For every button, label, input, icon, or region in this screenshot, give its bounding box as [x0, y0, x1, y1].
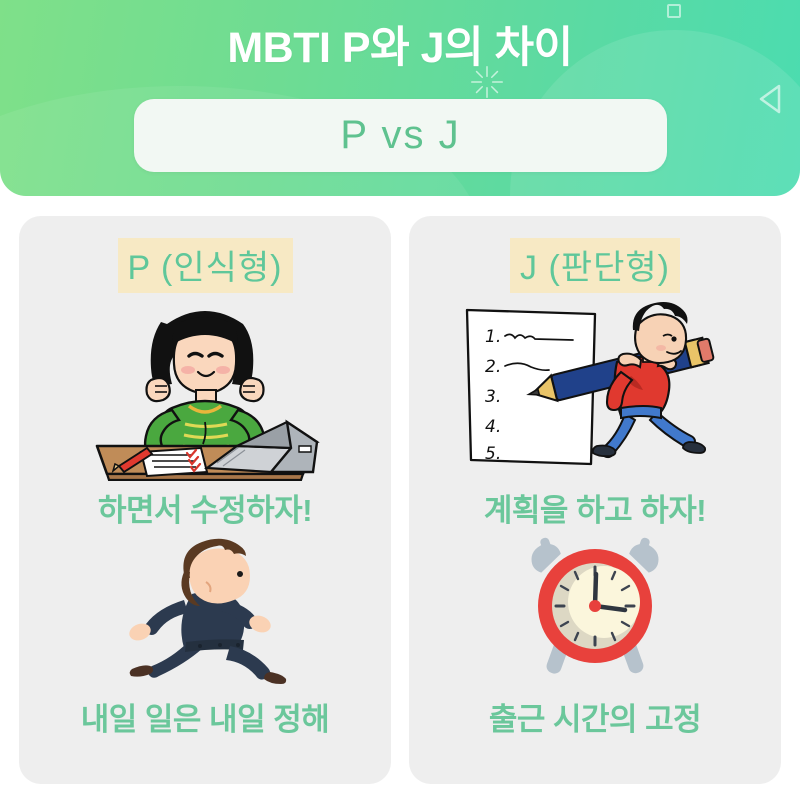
- card-j-title-wrap: J (판단형): [510, 238, 680, 293]
- list-number-3: 3.: [485, 387, 501, 407]
- running-businessman-illustration: [19, 530, 391, 690]
- card-p-title-wrap: P (인식형): [118, 238, 293, 293]
- card-j-title: J (판단형): [510, 238, 680, 293]
- list-number-4: 4.: [485, 417, 501, 437]
- card-j[interactable]: J (판단형) 1. 2. 3. 4. 5.: [409, 216, 781, 784]
- list-number-2: 2.: [485, 357, 501, 377]
- page-title: MBTI P와 J의 차이: [0, 22, 800, 74]
- card-p-caption-bottom: 내일 일은 내일 정해: [81, 694, 330, 739]
- square-outline-icon: [667, 4, 681, 18]
- list-number-1: 1.: [485, 327, 501, 347]
- infographic-page: MBTI P와 J의 차이 P vs J P (인식형): [0, 0, 800, 800]
- card-p-caption-top: 하면서 수정하자!: [98, 485, 312, 530]
- woman-at-desk-illustration: [19, 293, 391, 483]
- card-p-title: P (인식형): [118, 238, 293, 293]
- comparison-cards: P (인식형): [0, 216, 800, 800]
- pill-label: P vs J: [340, 113, 460, 158]
- alarm-clock-illustration: [409, 530, 781, 690]
- p-vs-j-pill[interactable]: P vs J: [134, 99, 667, 172]
- list-number-5: 5.: [485, 444, 501, 464]
- card-j-caption-top: 계획을 하고 하자!: [484, 485, 706, 530]
- header-banner: MBTI P와 J의 차이 P vs J: [0, 0, 800, 196]
- triangle-outline-icon: [757, 84, 777, 114]
- card-p[interactable]: P (인식형): [19, 216, 391, 784]
- card-j-caption-bottom: 출근 시간의 고정: [489, 694, 701, 739]
- man-with-giant-pencil-illustration: 1. 2. 3. 4. 5.: [409, 293, 781, 483]
